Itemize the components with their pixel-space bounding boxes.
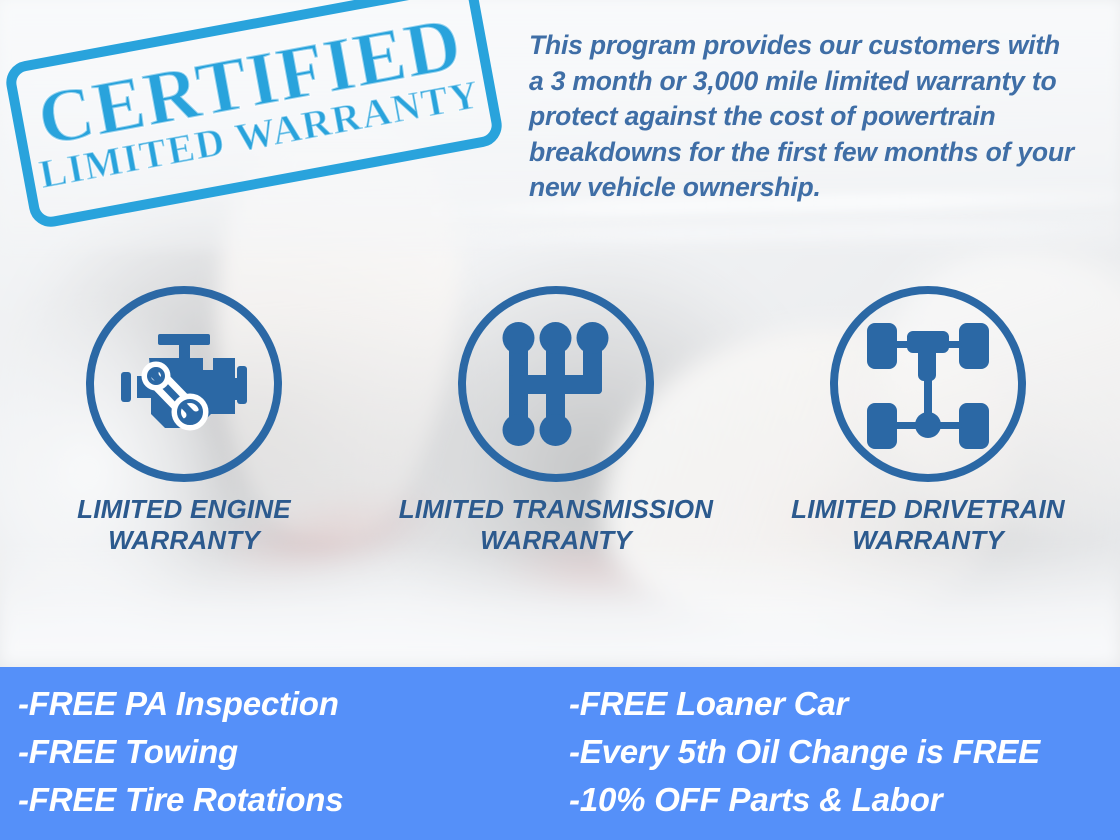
drivetrain-badge-circle: [830, 286, 1026, 482]
transmission-badge-label-line2: WARRANTY: [386, 525, 726, 556]
perk-item: -FREE Loaner Car: [569, 680, 1120, 728]
perk-item: -Every 5th Oil Change is FREE: [569, 728, 1120, 776]
perk-item: -FREE Tire Rotations: [18, 776, 562, 824]
gear-shifter-icon: [496, 320, 616, 448]
program-description: This program provides our customers with…: [529, 28, 1077, 206]
coverage-item-engine: LIMITED ENGINE WARRANTY: [14, 286, 354, 556]
coverage-item-transmission: LIMITED TRANSMISSION WARRANTY: [386, 286, 726, 556]
warranty-poster: CERTIFIED LIMITED WARRANTY This program …: [0, 0, 1120, 840]
engine-badge-circle: [86, 286, 282, 482]
transmission-badge-circle: [458, 286, 654, 482]
transmission-badge-label-line1: LIMITED TRANSMISSION: [386, 494, 726, 525]
perks-column-right: -FREE Loaner Car -Every 5th Oil Change i…: [562, 667, 1120, 840]
drivetrain-badge-label-line2: WARRANTY: [758, 525, 1098, 556]
perks-column-left: -FREE PA Inspection -FREE Towing -FREE T…: [0, 667, 562, 840]
drivetrain-icon: [861, 317, 995, 451]
perk-item: -FREE PA Inspection: [18, 680, 562, 728]
drivetrain-badge-label: LIMITED DRIVETRAIN WARRANTY: [758, 494, 1098, 556]
perks-banner: -FREE PA Inspection -FREE Towing -FREE T…: [0, 667, 1120, 840]
engine-badge-label-line1: LIMITED ENGINE: [14, 494, 354, 525]
coverage-item-drivetrain: LIMITED DRIVETRAIN WARRANTY: [758, 286, 1098, 556]
transmission-badge-label: LIMITED TRANSMISSION WARRANTY: [386, 494, 726, 556]
drivetrain-badge-label-line1: LIMITED DRIVETRAIN: [758, 494, 1098, 525]
perk-item: -10% OFF Parts & Labor: [569, 776, 1120, 824]
engine-badge-label-line2: WARRANTY: [14, 525, 354, 556]
engine-icon: [118, 328, 250, 440]
coverage-badges: LIMITED ENGINE WARRANTY: [0, 286, 1120, 576]
perk-item: -FREE Towing: [18, 728, 562, 776]
engine-badge-label: LIMITED ENGINE WARRANTY: [14, 494, 354, 556]
